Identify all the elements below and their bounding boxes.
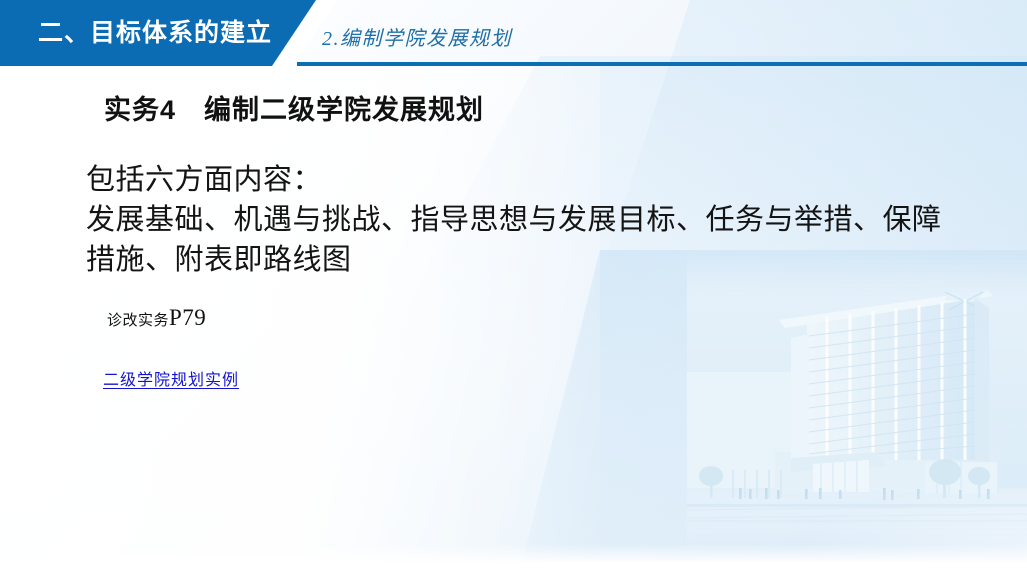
header-rule [297,62,1027,66]
background-left-wash [0,66,600,578]
reference-note: 诊改实务P79 [107,305,206,331]
background-bottom-fade [0,544,1027,578]
reference-note-label: 诊改实务 [107,313,169,329]
body-line-intro: 包括六方面内容： [86,160,966,200]
header-subtitle: 2.编制学院发展规划 [322,26,512,52]
body-line-items: 发展基础、机遇与挑战、指导思想与发展目标、任务与举措、保障措施、附表即路线图 [86,200,966,280]
example-hyperlink[interactable]: 二级学院规划实例 [103,366,239,390]
campus-building-watermark [687,252,1027,552]
page-title: 实务4 编制二级学院发展规划 [104,88,484,127]
reference-note-page: P79 [169,305,206,330]
section-banner-label: 二、目标体系的建立 [38,16,272,50]
body-text-block: 包括六方面内容： 发展基础、机遇与挑战、指导思想与发展目标、任务与举措、保障措施… [86,160,966,280]
presentation-slide: 二、目标体系的建立 2.编制学院发展规划 实务4 编制二级学院发展规划 包括六方… [0,0,1027,578]
